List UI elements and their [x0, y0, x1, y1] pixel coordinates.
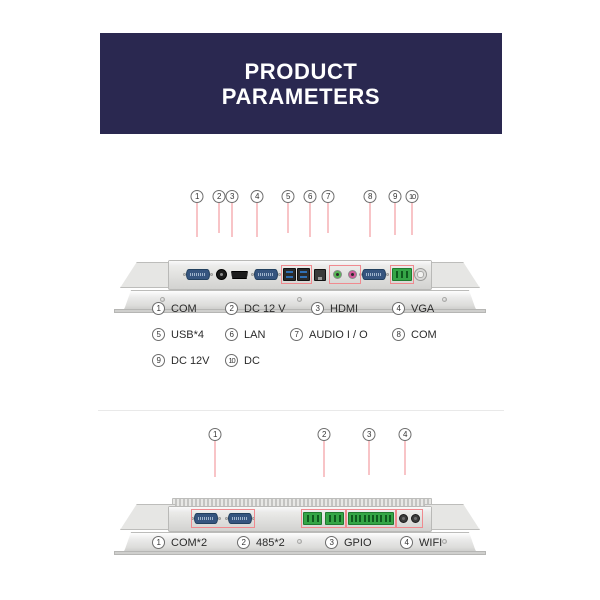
callout-leader-line	[328, 203, 329, 233]
io-legend: 1COM2DC 12 V3HDMI4VGA5USB*46LAN7AUDIO I …	[0, 298, 600, 376]
highlight-audio-group	[329, 265, 361, 284]
io-legend-item-lan: 6LAN	[225, 328, 265, 341]
legend-label: HDMI	[330, 303, 358, 315]
rear-legend-item-wifi: 4WIFI	[400, 536, 442, 549]
legend-label: WIFI	[419, 537, 442, 549]
banner-title-line-1: PRODUCT	[245, 59, 358, 84]
callout-number: 5	[282, 190, 295, 203]
io-legend-row: 1COM2DC 12 V3HDMI4VGA	[0, 298, 600, 324]
highlight-gpio-group	[346, 509, 396, 528]
callout-leader-line	[219, 203, 220, 233]
rear-panel-section: 1234 1COM*224	[0, 428, 600, 563]
rear-legend: 1COM*22485*23GPIO4WIFI	[0, 532, 600, 558]
legend-number: 5	[152, 328, 165, 341]
callout-number: 2	[318, 428, 331, 441]
legend-label: GPIO	[344, 537, 372, 549]
chassis-right-corner	[424, 504, 480, 530]
legend-number: 2	[237, 536, 250, 549]
legend-label: DC 12V	[171, 355, 210, 367]
highlight-rs485-group	[301, 509, 346, 528]
io-callout-5: 5	[282, 190, 295, 233]
legend-label: USB*4	[171, 329, 204, 341]
callout-leader-line	[288, 203, 289, 233]
io-legend-row: 5USB*46LAN7AUDIO I / O8COM	[0, 324, 600, 350]
io-callout-2: 2	[213, 190, 226, 233]
hdmi-port	[231, 271, 248, 279]
callout-number: 3	[226, 190, 239, 203]
callout-number: 8	[364, 190, 377, 203]
io-callout-group: 12345678910	[0, 190, 600, 230]
rear-legend-item-485-2: 2485*2	[237, 536, 285, 549]
highlight-terminal-group	[390, 265, 414, 284]
io-panel-section: 12345678910	[0, 190, 600, 325]
io-callout-9: 9	[389, 190, 402, 235]
legend-number: 9	[152, 354, 165, 367]
legend-number: 6	[225, 328, 238, 341]
legend-number: 1	[152, 536, 165, 549]
dc-jack	[216, 269, 227, 280]
legend-number: 4	[400, 536, 413, 549]
io-legend-item-dc-12-v: 2DC 12 V	[225, 302, 286, 315]
io-legend-item-hdmi: 3HDMI	[311, 302, 358, 315]
legend-label: DC	[244, 355, 260, 367]
io-legend-item-com: 8COM	[392, 328, 437, 341]
highlight-usb-group	[281, 265, 312, 284]
rear-legend-item-com-2: 1COM*2	[152, 536, 207, 549]
com-port-2	[362, 269, 386, 280]
legend-label: COM*2	[171, 537, 207, 549]
highlight-com-group	[191, 509, 255, 528]
io-callout-10: 10	[406, 190, 419, 235]
highlight-wifi-group	[396, 509, 423, 528]
rear-legend-item-gpio: 3GPIO	[325, 536, 372, 549]
legend-number: 2	[225, 302, 238, 315]
lan-port	[314, 269, 326, 281]
callout-number: 4	[251, 190, 264, 203]
legend-number: 7	[290, 328, 303, 341]
callout-number: 10	[406, 190, 419, 203]
legend-number: 10	[225, 354, 238, 367]
legend-number: 3	[325, 536, 338, 549]
legend-label: LAN	[244, 329, 265, 341]
legend-label: COM	[171, 303, 197, 315]
dc-power-round-connector	[414, 268, 427, 281]
io-legend-row: 9DC 12V10DC	[0, 350, 600, 376]
io-legend-item-com: 1COM	[152, 302, 197, 315]
product-parameters-banner: PRODUCT PARAMETERS	[100, 33, 502, 134]
io-callout-7: 7	[322, 190, 335, 233]
legend-label: 485*2	[256, 537, 285, 549]
legend-label: DC 12 V	[244, 303, 286, 315]
callout-number: 3	[363, 428, 376, 441]
callout-number: 7	[322, 190, 335, 203]
io-legend-item-dc: 10DC	[225, 354, 260, 367]
rear-callout-group: 1234	[0, 428, 600, 468]
product-parameters-page: PRODUCT PARAMETERS 12345678910	[0, 0, 600, 600]
legend-number: 1	[152, 302, 165, 315]
callout-number: 1	[209, 428, 222, 441]
section-divider	[98, 410, 504, 411]
rear-legend-row: 1COM*22485*23GPIO4WIFI	[0, 532, 600, 558]
legend-number: 3	[311, 302, 324, 315]
legend-label: AUDIO I / O	[309, 329, 368, 341]
io-legend-item-usb-4: 5USB*4	[152, 328, 204, 341]
callout-number: 2	[213, 190, 226, 203]
callout-number: 1	[191, 190, 204, 203]
legend-label: COM	[411, 329, 437, 341]
legend-number: 4	[392, 302, 405, 315]
legend-label: VGA	[411, 303, 434, 315]
io-legend-item-vga: 4VGA	[392, 302, 434, 315]
io-legend-item-audio-i-o: 7AUDIO I / O	[290, 328, 368, 341]
vga-port	[254, 269, 278, 280]
callout-number: 9	[389, 190, 402, 203]
io-legend-item-dc-12v: 9DC 12V	[152, 354, 210, 367]
callout-number: 6	[304, 190, 317, 203]
banner-title-line-2: PARAMETERS	[222, 84, 380, 109]
callout-number: 4	[399, 428, 412, 441]
legend-number: 8	[392, 328, 405, 341]
com-port-1	[186, 269, 210, 280]
chassis-right-corner	[424, 262, 480, 288]
